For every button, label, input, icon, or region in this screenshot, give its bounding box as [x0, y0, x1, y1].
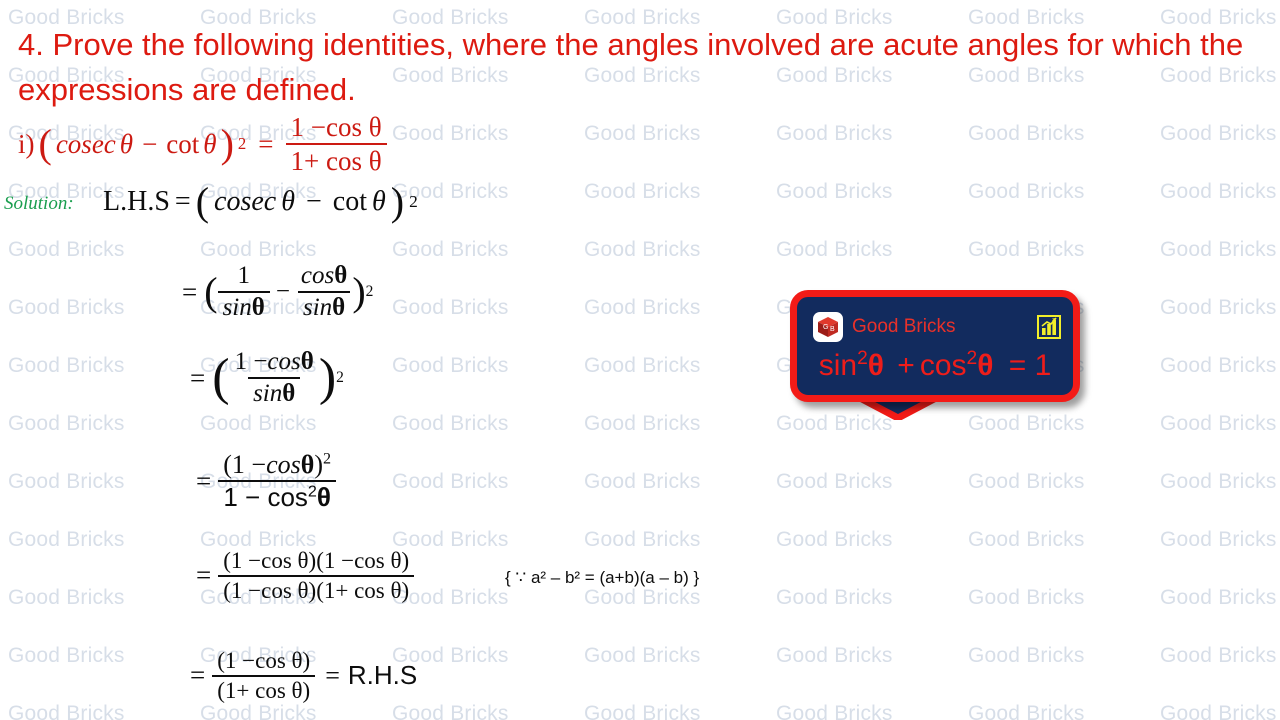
slide-content: 4. Prove the following identities, where…	[0, 0, 1280, 720]
problem-denominator: 1+ cos θ	[286, 143, 387, 176]
lhs-cosec: cosec	[214, 186, 276, 218]
step-2-den-fn: sin	[253, 380, 282, 407]
step-4-fraction: (1 −cos θ)(1 −cos θ) (1 −cos θ)(1+ cos θ…	[218, 548, 414, 604]
step-5-fraction: (1 −cos θ) (1+ cos θ)	[212, 648, 315, 704]
step-3-den-power: 2	[308, 482, 317, 500]
lhs-theta-2: θ	[372, 186, 386, 218]
problem-open-paren: (	[39, 128, 52, 160]
step-1-equals: =	[182, 277, 197, 308]
lhs-close-paren: )	[391, 186, 404, 218]
step-1-den-a-fn: sin	[223, 294, 252, 321]
problem-power: 2	[238, 136, 246, 153]
step-5-rhs-label: R.H.S	[348, 660, 417, 691]
lhs-theta-1: θ	[281, 186, 295, 218]
step-4-numerator: (1 −cos θ)(1 −cos θ)	[218, 548, 414, 575]
step-3-equals: =	[196, 466, 211, 497]
step-2-num-theta: θ	[301, 348, 314, 375]
step-5-numerator: (1 −cos θ)	[212, 648, 315, 675]
step-1-den-b-fn: sin	[303, 294, 332, 321]
step-1-num-b: cosθ	[296, 262, 352, 291]
callout-header: G B Good Bricks	[813, 311, 1061, 343]
callout-plus: +	[897, 349, 915, 382]
identity-callout[interactable]: G B Good Bricks	[790, 290, 1080, 402]
lhs-cot: cot	[333, 186, 367, 218]
lhs-label: L.H.S	[103, 186, 170, 218]
step-2-fraction: 1 −cosθ sinθ	[230, 348, 319, 408]
lhs-power: 2	[409, 193, 418, 210]
step-1-den-a: sinθ	[218, 291, 270, 322]
step-1-num-b-fn: cos	[301, 262, 334, 289]
identity-note: { ∵ a² – b² = (a+b)(a – b) }	[505, 568, 699, 588]
cube-logo-icon: G B	[813, 312, 843, 342]
step-2-open-paren: (	[212, 357, 229, 399]
callout-sin: sin	[819, 349, 857, 382]
callout-cos-power: 2	[967, 348, 978, 369]
step-1-open-paren: (	[204, 276, 217, 308]
problem-minus: −	[142, 129, 157, 160]
step-1-num-a: 1	[232, 262, 255, 291]
callout-box: G B Good Bricks	[790, 290, 1080, 402]
step-4-equals: =	[196, 560, 211, 591]
lhs-equals: =	[175, 186, 191, 218]
step-4-denominator: (1 −cos θ)(1+ cos θ)	[218, 575, 414, 604]
problem-theta-2: θ	[203, 129, 216, 160]
callout-sin-power: 2	[857, 348, 868, 369]
solution-label: Solution:	[4, 193, 74, 215]
step-2-den-theta: θ	[282, 380, 295, 407]
step-1-fraction-b: cosθ sinθ	[296, 262, 352, 322]
step-3-num-open: (1 −	[223, 450, 266, 479]
step-2-num-fn: cos	[267, 348, 300, 375]
problem-equals: =	[258, 129, 273, 160]
step-1-den-b: sinθ	[298, 291, 350, 322]
step-3-den-prefix: 1 −	[223, 482, 267, 512]
step-5-equals-2: =	[325, 661, 340, 691]
step-1-fraction-a: 1 sinθ	[218, 262, 270, 322]
lhs-open-paren: (	[196, 186, 209, 218]
callout-formula: sin2θ +cos2θ = 1	[797, 349, 1073, 383]
problem-statement: i) ( cosec θ − cot θ ) 2 = 1 −cos θ 1+ c…	[18, 112, 387, 176]
step-5-denominator: (1+ cos θ)	[212, 675, 315, 704]
callout-equals-one: = 1	[1009, 349, 1052, 382]
callout-brand-label: Good Bricks	[852, 316, 955, 338]
step-2-power: 2	[336, 370, 344, 386]
step-3-den-fn: cos	[267, 482, 307, 512]
problem-close-paren: )	[221, 128, 234, 160]
step-3-num-close: )	[314, 450, 323, 479]
step-2-numerator: 1 −cosθ	[230, 348, 319, 377]
step-1-minus: −	[276, 278, 290, 306]
problem-numerator: 1 −cos θ	[286, 112, 387, 143]
step-2-num-prefix: 1 −	[235, 348, 268, 375]
step-3-numerator: (1 −cosθ)2	[218, 450, 336, 480]
step-3-num-power: 2	[323, 450, 331, 467]
step-1-den-b-theta: θ	[332, 294, 345, 321]
step-3-den-theta: θ	[317, 482, 331, 512]
step-5: = (1 −cos θ) (1+ cos θ) = R.H.S	[190, 648, 417, 704]
bar-chart-icon	[1037, 315, 1061, 339]
solution-lhs-line: L.H.S = ( cosec θ − cot θ ) 2	[103, 186, 418, 218]
step-3-fraction: (1 −cosθ)2 1 − cos2θ	[218, 450, 336, 512]
problem-cot: cot	[166, 129, 199, 160]
svg-text:G: G	[823, 324, 828, 331]
page-title: 4. Prove the following identities, where…	[18, 22, 1268, 112]
problem-theta-1: θ	[120, 129, 133, 160]
step-3: = (1 −cosθ)2 1 − cos2θ	[196, 450, 336, 512]
problem-fraction: 1 −cos θ 1+ cos θ	[286, 112, 387, 176]
step-1-num-b-theta: θ	[334, 262, 347, 289]
slide-canvas: Good BricksGood BricksGood BricksGood Br…	[0, 0, 1280, 720]
step-1-power: 2	[366, 284, 374, 300]
step-2-close-paren: )	[319, 357, 336, 399]
problem-label: i)	[18, 129, 35, 160]
step-2-equals: =	[190, 363, 205, 394]
step-1: = ( 1 sinθ − cosθ sinθ ) 2	[182, 262, 373, 322]
callout-theta-2: θ	[977, 349, 993, 382]
step-3-num-theta: θ	[301, 450, 315, 479]
step-2: = ( 1 −cosθ sinθ ) 2	[190, 348, 344, 408]
callout-cos: cos	[920, 349, 967, 382]
step-1-den-a-theta: θ	[252, 294, 265, 321]
step-5-equals: =	[190, 660, 205, 691]
step-3-denominator: 1 − cos2θ	[218, 480, 336, 512]
problem-cosec: cosec	[56, 129, 116, 160]
step-4: = (1 −cos θ)(1 −cos θ) (1 −cos θ)(1+ cos…	[196, 548, 414, 604]
callout-theta-1: θ	[868, 349, 884, 382]
svg-text:B: B	[830, 326, 835, 333]
lhs-minus: −	[306, 186, 322, 218]
step-2-denominator: sinθ	[248, 377, 300, 408]
step-1-close-paren: )	[352, 276, 365, 308]
step-3-num-fn: cos	[266, 450, 301, 479]
